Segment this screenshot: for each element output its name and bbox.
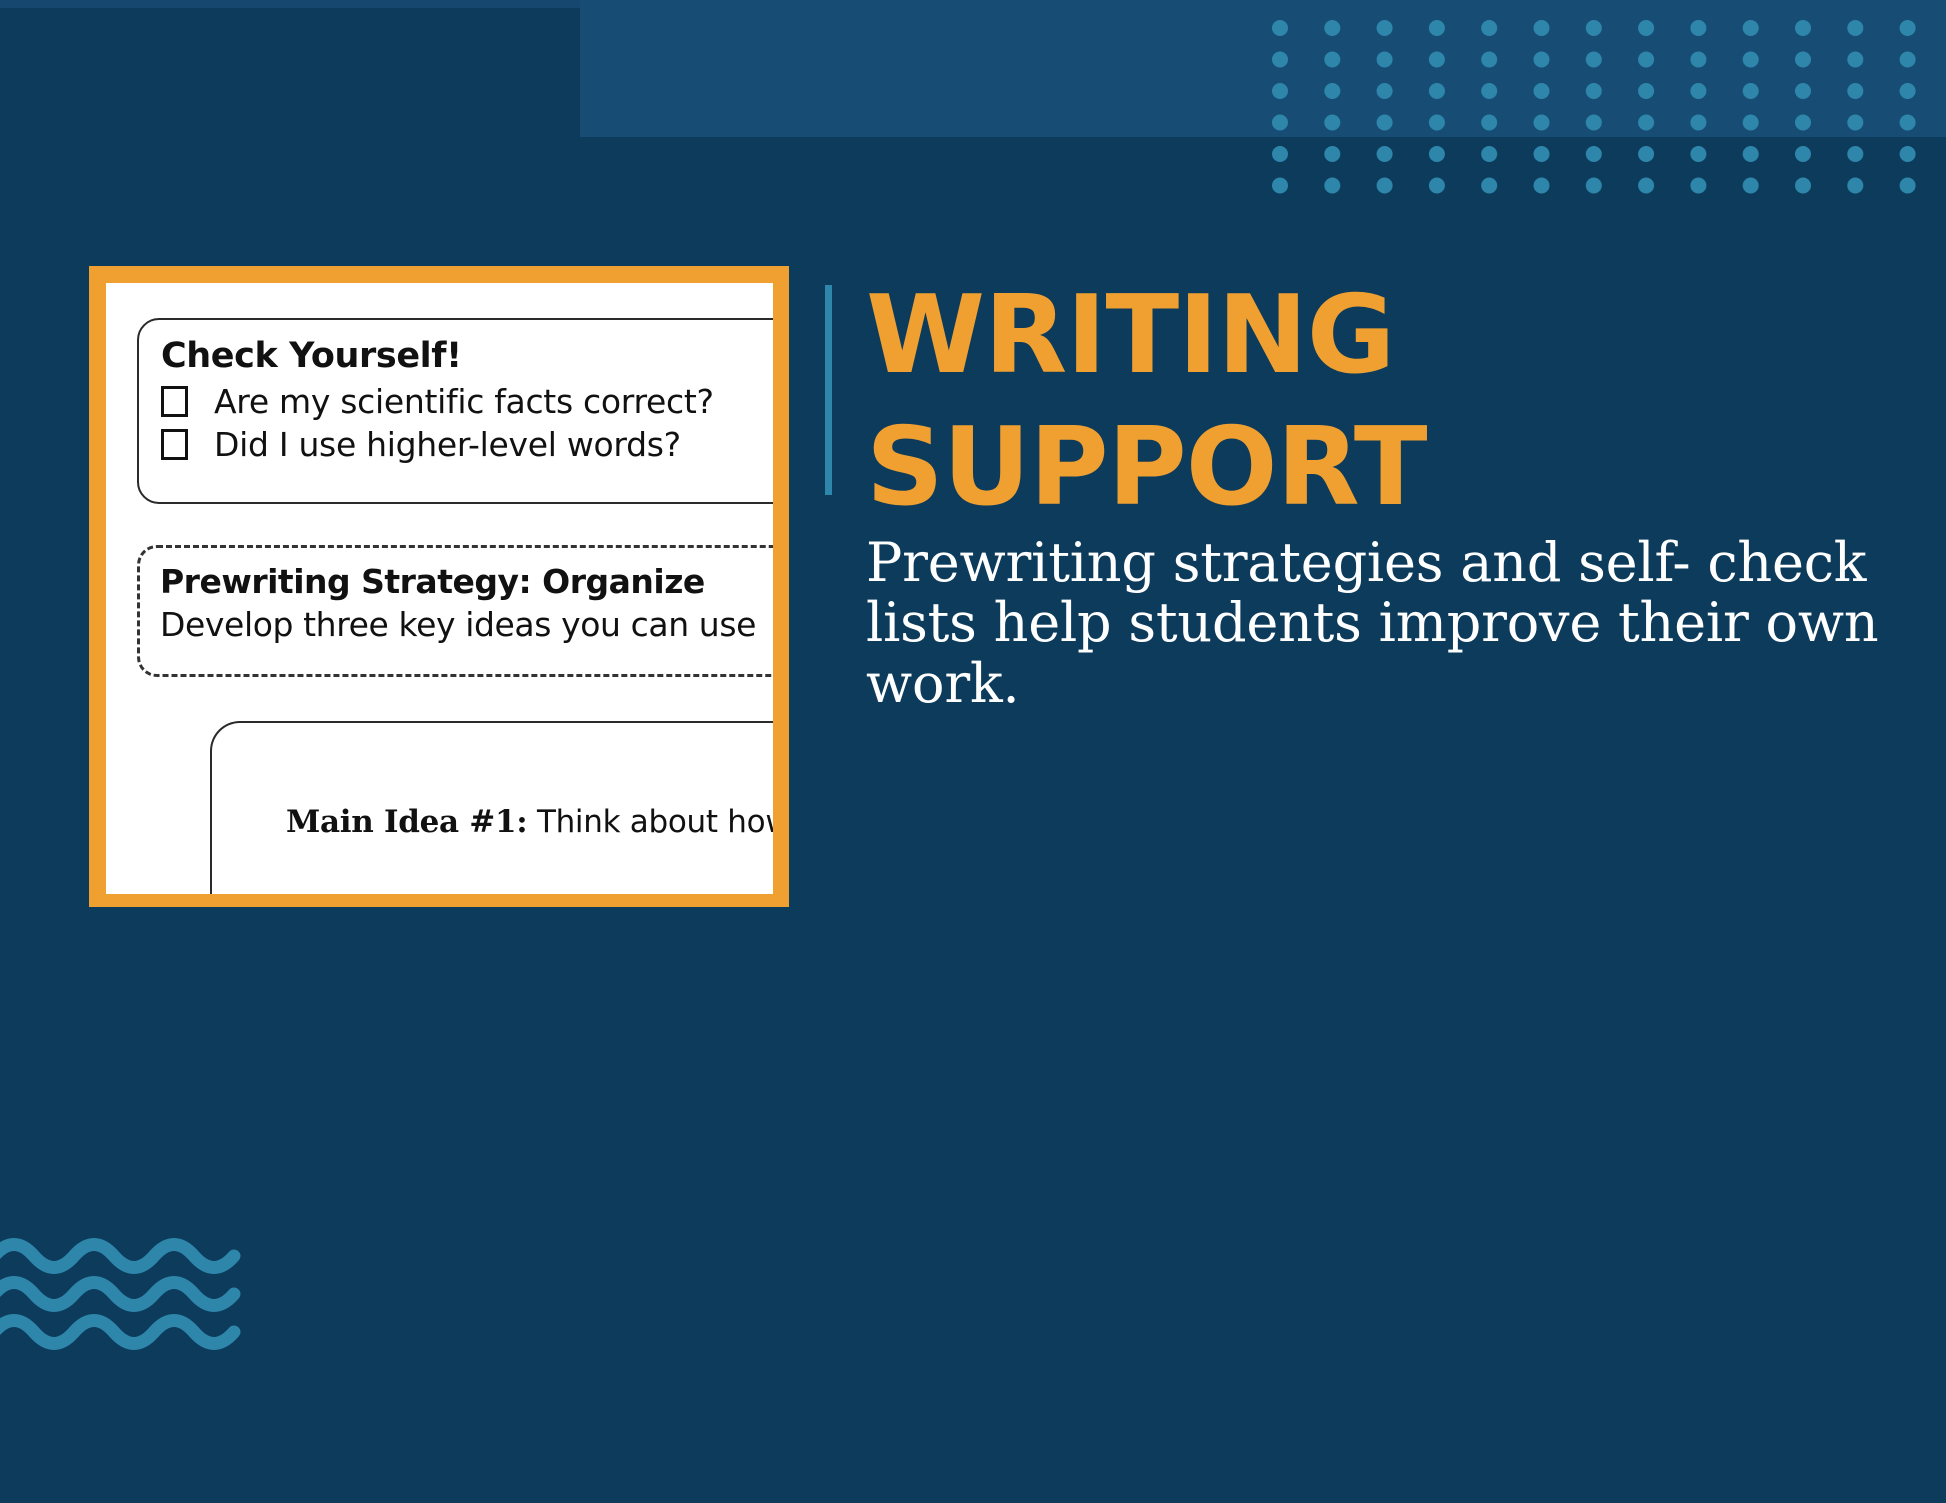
checkbox-icon xyxy=(161,429,188,460)
slide-canvas: Check Yourself! Are my scientific facts … xyxy=(0,0,1946,1503)
page-title-line-1: WRITING xyxy=(866,270,1886,402)
prewriting-strategy-box: Prewriting Strategy: Organize Develop th… xyxy=(137,545,773,677)
checkbox-icon xyxy=(161,386,188,417)
title-accent-bar xyxy=(825,285,832,495)
worksheet-image: Check Yourself! Are my scientific facts … xyxy=(106,283,773,894)
main-idea-text: Think about how oxy xyxy=(537,804,773,840)
check-yourself-box: Check Yourself! Are my scientific facts … xyxy=(137,318,773,504)
prewriting-strategy-text: Develop three key ideas you can use xyxy=(160,605,773,644)
body-paragraph: Prewriting strategies and self- check li… xyxy=(866,533,1896,714)
page-title-line-2: SUPPORT xyxy=(866,402,1886,534)
top-left-strip xyxy=(0,0,580,8)
page-title: WRITING SUPPORT xyxy=(866,270,1886,534)
checklist-item: Did I use higher-level words? xyxy=(161,425,773,464)
prewriting-strategy-title: Prewriting Strategy: Organize xyxy=(160,562,773,601)
checklist-item-label: Are my scientific facts correct? xyxy=(214,382,714,421)
main-idea-label: Main Idea #1: xyxy=(286,804,527,840)
dot-grid-pattern xyxy=(1272,20,1946,196)
worksheet-content: Check Yourself! Are my scientific facts … xyxy=(106,283,773,894)
worksheet-image-card[interactable]: Check Yourself! Are my scientific facts … xyxy=(89,266,789,907)
checklist-item: Are my scientific facts correct? xyxy=(161,382,773,421)
checklist-item-label: Did I use higher-level words? xyxy=(214,425,681,464)
check-yourself-title: Check Yourself! xyxy=(161,336,773,376)
main-idea-row: Main Idea #1: Think about how oxy xyxy=(286,804,773,840)
wave-pattern xyxy=(0,1228,262,1358)
